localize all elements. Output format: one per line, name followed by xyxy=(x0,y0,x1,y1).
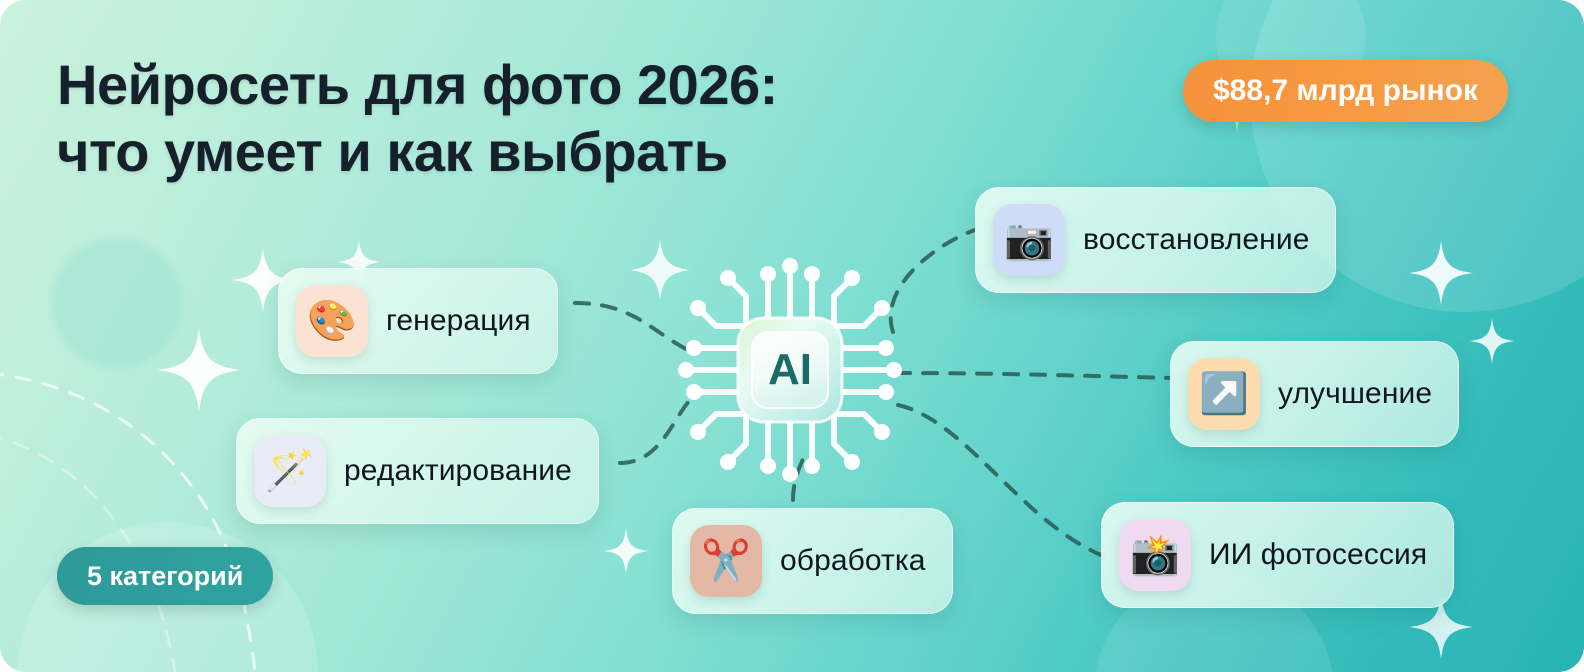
category-count-badge-label: 5 категорий xyxy=(87,561,243,592)
feature-card-generation-label: генерация xyxy=(386,304,531,338)
feature-card-enhancement-label: улучшение xyxy=(1278,377,1432,411)
camera-flash-icon: 📸 xyxy=(1119,519,1191,591)
decorative-circle-mid-left xyxy=(52,238,182,368)
camera-icon: 📷 xyxy=(993,204,1065,276)
palette-icon: 🎨 xyxy=(296,285,368,357)
ai-chip-graphic: AI xyxy=(668,248,912,492)
page-title: Нейросеть для фото 2026: что умеет и как… xyxy=(57,52,957,185)
market-size-badge[interactable]: $88,7 млрд рынок xyxy=(1183,60,1508,122)
ai-chip: AI xyxy=(668,248,912,492)
scissors-crop-icon: ✂️ xyxy=(690,525,762,597)
category-count-badge[interactable]: 5 категорий xyxy=(57,547,273,605)
promo-banner: Нейросеть для фото 2026: что умеет и как… xyxy=(0,0,1584,672)
feature-card-restoration-label: восстановление xyxy=(1083,223,1309,257)
feature-card-editing[interactable]: 🪄 редактирование xyxy=(236,418,599,524)
feature-card-photoshoot[interactable]: 📸 ИИ фотосессия xyxy=(1101,502,1454,608)
feature-card-photoshoot-label: ИИ фотосессия xyxy=(1209,538,1427,572)
feature-card-processing[interactable]: ✂️ обработка xyxy=(672,508,953,614)
arrow-up-right-icon: ↗️ xyxy=(1188,358,1260,430)
feature-card-enhancement[interactable]: ↗️ улучшение xyxy=(1170,341,1459,447)
feature-card-processing-label: обработка xyxy=(780,544,926,578)
connector-enhancement xyxy=(896,373,1172,378)
market-size-badge-label: $88,7 млрд рынок xyxy=(1213,74,1478,108)
magic-wand-icon: 🪄 xyxy=(254,435,326,507)
feature-card-restoration[interactable]: 📷 восстановление xyxy=(975,187,1336,293)
feature-card-generation[interactable]: 🎨 генерация xyxy=(278,268,558,374)
feature-card-editing-label: редактирование xyxy=(344,454,572,488)
ai-chip-label: AI xyxy=(768,345,812,394)
